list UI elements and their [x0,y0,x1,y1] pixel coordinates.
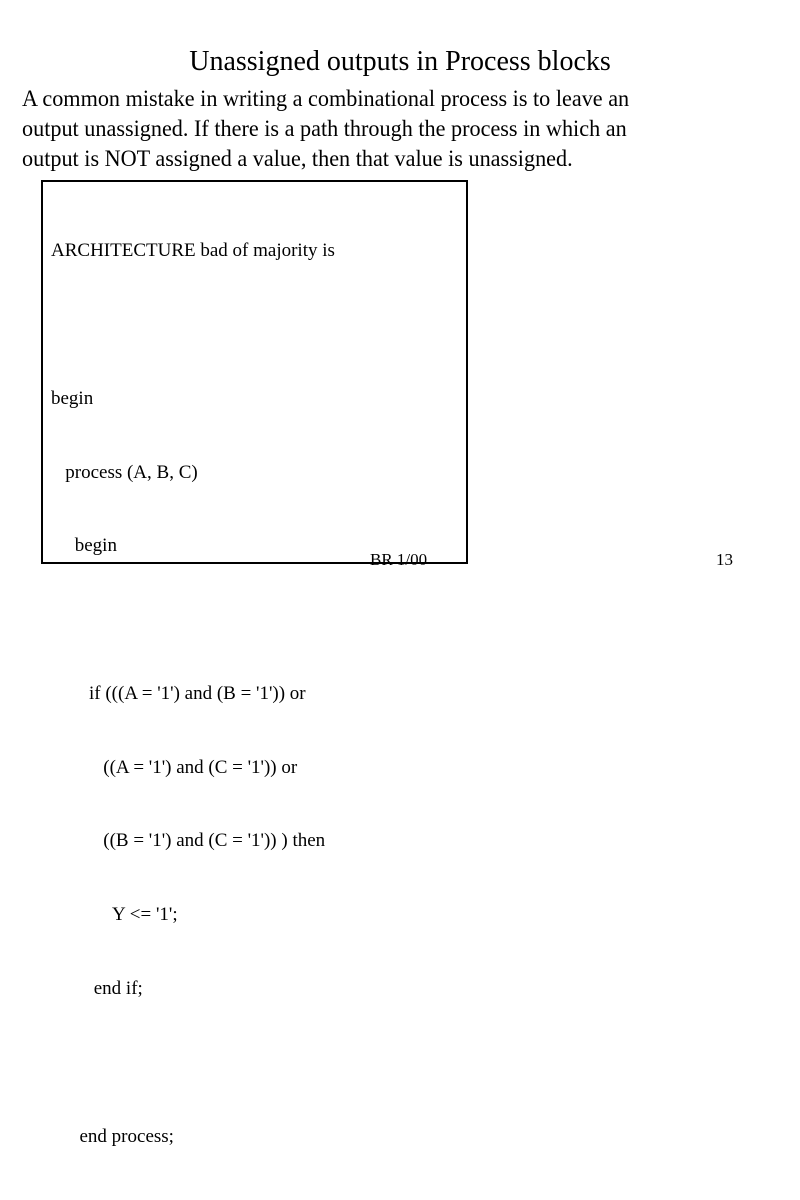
body-paragraph-line: output unassigned. If there is a path th… [22,114,752,144]
code-line [51,1051,463,1076]
code-line: ((A = '1') and (C = '1')) or [51,756,463,781]
page-title: Unassigned outputs in Process blocks [0,45,800,79]
code-line: ((B = '1') and (C = '1')) ) then [51,829,463,854]
code-line [51,313,463,338]
code-line: process (A, B, C) [51,461,463,486]
body-paragraph: A common mistake in writing a combinatio… [22,84,752,174]
code-listing-box: ARCHITECTURE bad of majority is begin pr… [41,180,468,564]
body-paragraph-line: output is NOT assigned a value, then tha… [22,144,752,174]
code-line: end bad; [51,1198,463,1200]
body-paragraph-line: A common mistake in writing a combinatio… [22,84,752,114]
code-line: Y <= '1'; [51,903,463,928]
code-line: end process; [51,1125,463,1150]
code-line: end if; [51,977,463,1002]
code-line [51,608,463,633]
vhdl-code-listing: ARCHITECTURE bad of majority is begin pr… [51,190,463,1200]
page-number: 13 [716,550,733,570]
code-line: begin [51,387,463,412]
code-line: if (((A = '1') and (B = '1')) or [51,682,463,707]
code-line: ARCHITECTURE bad of majority is [51,239,463,264]
footer-author-date: BR 1/00 [370,550,427,570]
